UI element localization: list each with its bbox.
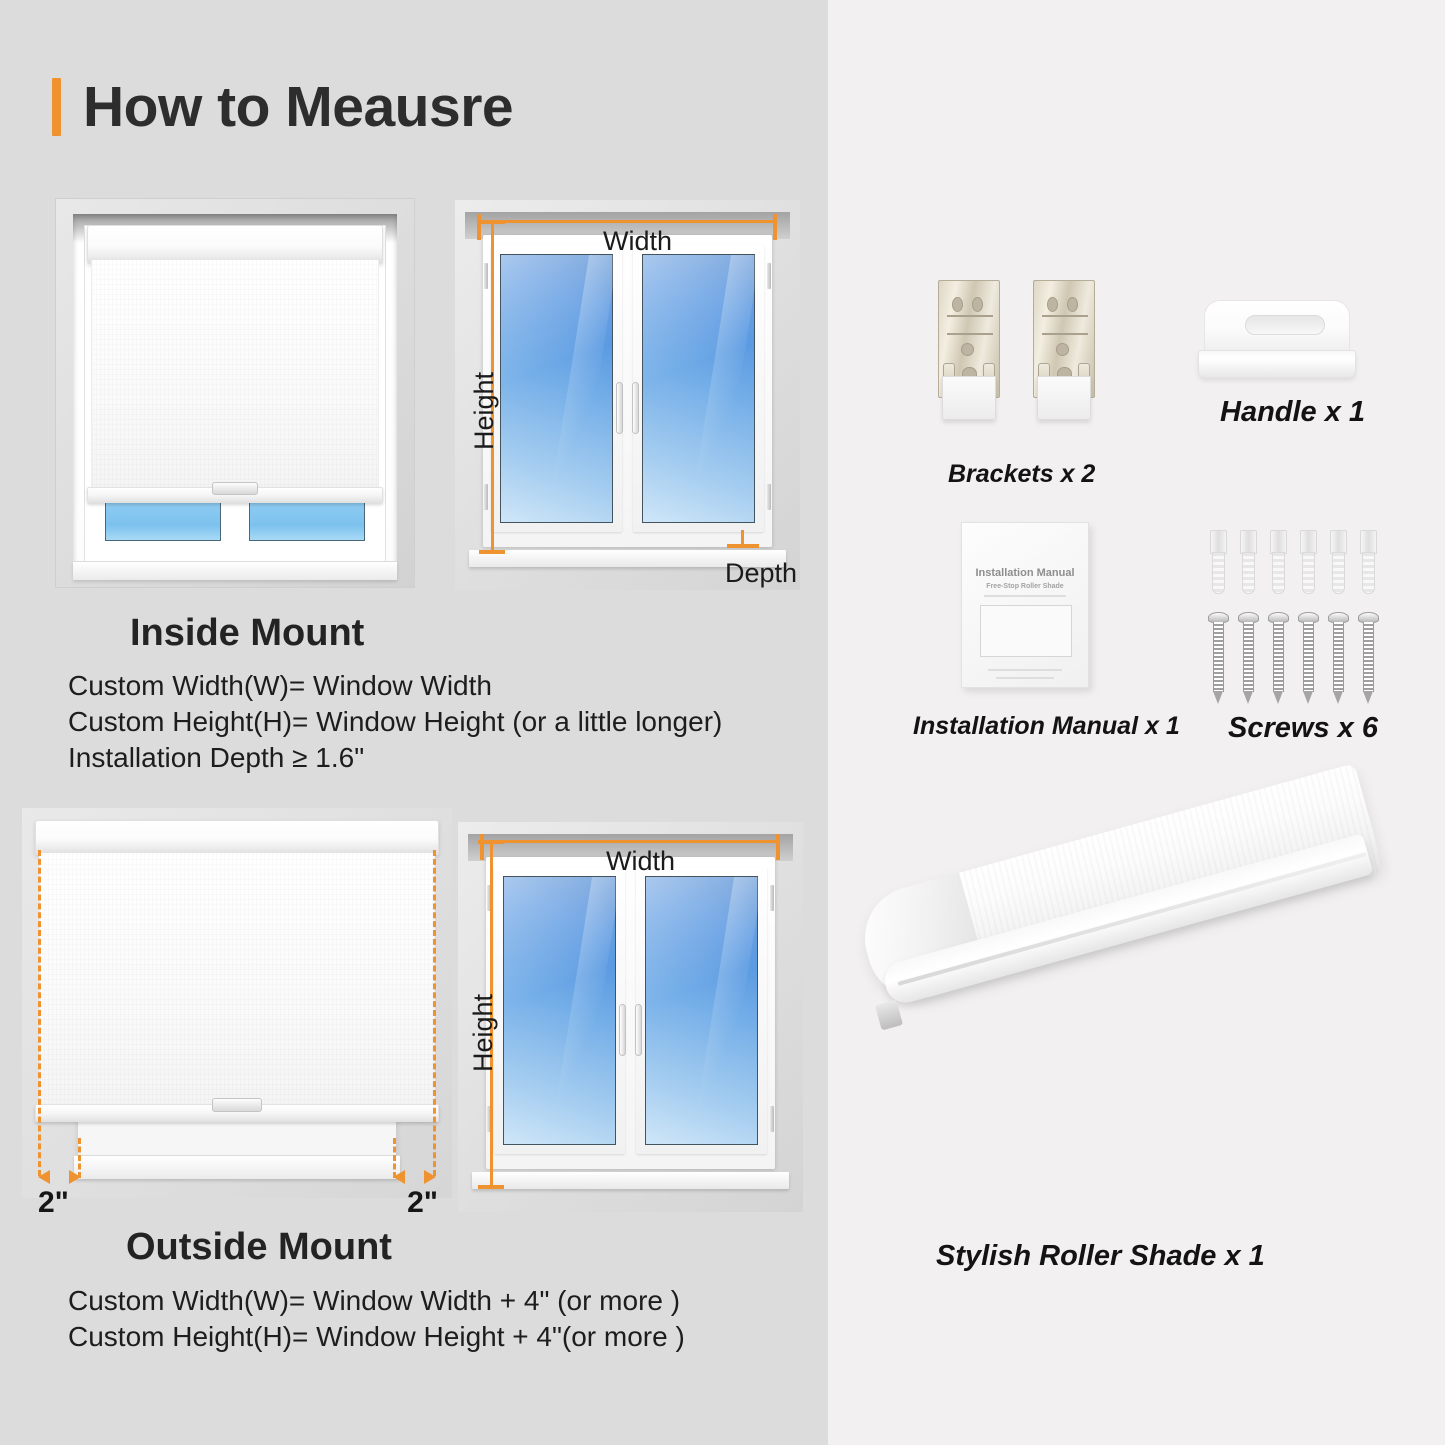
handle-grip-slot <box>1245 315 1325 335</box>
depth-measure-line <box>741 530 744 548</box>
bracket-tab <box>1037 376 1091 420</box>
inside-mount-shade-illustration <box>55 198 415 588</box>
bracket-ridge <box>947 333 993 335</box>
screw-icon <box>1300 612 1317 704</box>
window-pane-left <box>500 254 612 522</box>
window-handle-left-icon <box>619 1004 626 1056</box>
bracket-icon <box>938 280 1000 430</box>
width-label: Width <box>603 226 672 257</box>
shade-bottom-rail <box>35 1104 439 1122</box>
shade-pull-handle-icon <box>212 482 258 495</box>
window-hinge-bottom-right-icon <box>770 1106 774 1132</box>
inside-mount-title: Inside Mount <box>130 612 364 655</box>
brackets-label: Brackets x 2 <box>948 460 1095 489</box>
bracket-hole <box>952 297 963 312</box>
height-measure-cap-bottom <box>479 550 505 554</box>
screws-label: Screws x 6 <box>1228 712 1378 745</box>
manual-rule <box>984 595 1066 597</box>
handle-base <box>1198 350 1356 378</box>
roller-shade-icon <box>858 870 1368 1170</box>
manual-rule <box>988 669 1062 671</box>
height-label: Height <box>468 994 499 1072</box>
window-hinge-top-right-icon <box>767 263 771 289</box>
how-to-measure-panel: How to Meausre <box>0 0 828 1445</box>
width-measure-line <box>480 840 780 843</box>
shade-pull-handle-icon <box>212 1098 262 1112</box>
window-sill <box>73 561 397 581</box>
shade-fabric <box>39 853 435 1110</box>
inside-mount-line-2: Custom Height(H)= Window Height (or a li… <box>68 706 722 738</box>
outside-mount-shade-illustration: 2" 2" <box>22 808 452 1198</box>
height-measure-cap-top <box>478 840 504 844</box>
manual-cover-title: Installation Manual <box>962 567 1088 579</box>
roller-shade-bracket-clip <box>875 1000 903 1031</box>
bracket-hole <box>1047 297 1058 312</box>
width-measure-line <box>477 220 777 223</box>
window-sash-left <box>494 867 624 1153</box>
width-measure-cap-left <box>480 834 484 860</box>
heading-label: How to Meausre <box>83 74 513 140</box>
window-sash-right <box>636 867 766 1153</box>
window-outer-frame <box>486 857 776 1169</box>
window-pane-right <box>642 254 754 522</box>
manual-cover-subtitle: Free-Stop Roller Shade <box>962 583 1088 590</box>
bracket-hole <box>961 343 974 356</box>
window-hinge-top-left-icon <box>484 263 488 289</box>
window-glass-left <box>105 502 220 541</box>
overhang-guide-left <box>38 850 41 1176</box>
wall-anchor-icon <box>1240 530 1257 594</box>
window-handle-right-icon <box>632 382 639 434</box>
window-pane-left <box>503 876 615 1144</box>
shade-fabric <box>91 260 379 490</box>
height-measure-cap-bottom <box>478 1185 504 1189</box>
wall-anchor-icon <box>1210 530 1227 594</box>
handle-icon <box>1198 300 1356 380</box>
overhang-guide-right <box>433 850 436 1176</box>
screw-icon <box>1240 612 1257 704</box>
roller-shade-product <box>858 870 1368 1170</box>
bracket-hole <box>972 297 983 312</box>
width-measure-cap-right <box>776 834 780 860</box>
window-handle-right-icon <box>635 1004 642 1056</box>
overhang-label-left: 2" <box>38 1186 69 1220</box>
overhang-arrows-left <box>38 1168 81 1184</box>
bracket-hole <box>1056 343 1069 356</box>
depth-label: Depth <box>725 558 797 589</box>
wall-anchor-icon <box>1300 530 1317 594</box>
bracket-ridge <box>947 315 993 317</box>
inside-mount-line-1: Custom Width(W)= Window Width <box>68 670 492 702</box>
window-glass-right <box>249 502 364 541</box>
height-measure-cap-top <box>479 220 505 224</box>
window-sill <box>74 1155 401 1178</box>
manual-label: Installation Manual x 1 <box>913 712 1180 741</box>
screw-icon <box>1330 612 1347 704</box>
overhang-arrows-right <box>393 1168 436 1184</box>
bracket-tab <box>942 376 996 420</box>
outside-mount-title: Outside Mount <box>126 1226 392 1269</box>
window-sash-right <box>633 245 763 531</box>
screw-icon <box>1270 612 1287 704</box>
bracket-icon <box>1033 280 1095 430</box>
shade-bottom-rail <box>87 487 382 503</box>
inside-mount-line-3: Installation Depth ≥ 1.6" <box>68 742 364 774</box>
window-sill-ledge <box>472 1172 789 1188</box>
window-pane-right <box>645 876 757 1144</box>
manual-cover-figure <box>980 605 1072 657</box>
screw-icon <box>1210 612 1227 704</box>
shade-headrail <box>87 225 382 264</box>
outside-mount-measure-diagram: Width Height <box>458 822 803 1212</box>
window-sash-left <box>491 245 621 531</box>
wall-anchor-icon <box>1270 530 1287 594</box>
manual-rule <box>996 677 1054 679</box>
window-hinge-top-right-icon <box>770 885 774 911</box>
package-contents-panel: What's in the package <box>828 0 1445 1445</box>
inside-mount-measure-diagram: Width Height Depth <box>455 200 800 590</box>
outside-mount-line-2: Custom Height(H)= Window Height + 4"(or … <box>68 1321 685 1353</box>
accent-bar-icon <box>52 78 61 136</box>
infographic-page: How to Meausre <box>0 0 1445 1445</box>
outside-mount-line-1: Custom Width(W)= Window Width + 4" (or m… <box>68 1285 680 1317</box>
window-hinge-bottom-right-icon <box>767 484 771 510</box>
handle-label: Handle x 1 <box>1220 396 1365 429</box>
window-hinge-bottom-left-icon <box>484 484 488 510</box>
width-measure-cap-left <box>477 214 481 240</box>
bracket-hole <box>1067 297 1078 312</box>
wall-anchor-icon <box>1330 530 1347 594</box>
roller-shade-label: Stylish Roller Shade x 1 <box>936 1240 1265 1273</box>
handle-top <box>1204 300 1350 354</box>
height-label: Height <box>469 372 500 450</box>
bracket-ridge <box>1042 333 1088 335</box>
width-measure-cap-right <box>773 214 777 240</box>
shade-headrail <box>35 820 439 855</box>
window-outer-frame <box>483 235 773 547</box>
window-handle-left-icon <box>616 382 623 434</box>
overhang-label-right: 2" <box>407 1186 438 1220</box>
manual-icon: Installation Manual Free-Stop Roller Sha… <box>961 522 1089 688</box>
screw-icon <box>1360 612 1377 704</box>
wall-anchor-icon <box>1360 530 1377 594</box>
how-to-measure-heading: How to Meausre <box>52 74 513 140</box>
bracket-ridge <box>1042 315 1088 317</box>
width-label: Width <box>606 846 675 877</box>
